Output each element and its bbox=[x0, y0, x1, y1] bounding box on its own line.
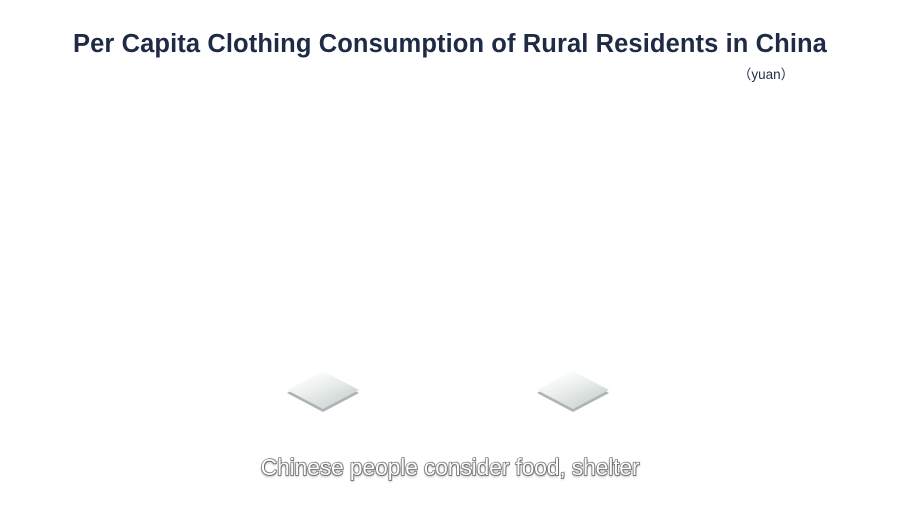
y-axis-unit-label: （yuan） bbox=[0, 66, 900, 84]
presentation-slide: Per Capita Clothing Consumption of Rural… bbox=[0, 0, 900, 506]
bar-top-face bbox=[537, 371, 609, 409]
chart-bar-base-2 bbox=[537, 371, 609, 411]
chart-plot-area bbox=[0, 96, 900, 426]
slide-title-block: Per Capita Clothing Consumption of Rural… bbox=[0, 28, 900, 60]
caption-bar: Chinese people consider food, shelter bbox=[0, 452, 900, 482]
bar-top-face bbox=[287, 371, 359, 409]
subtitle-caption: Chinese people consider food, shelter bbox=[261, 452, 640, 482]
chart-bar-base-1 bbox=[287, 371, 359, 411]
page-title: Per Capita Clothing Consumption of Rural… bbox=[0, 28, 900, 60]
